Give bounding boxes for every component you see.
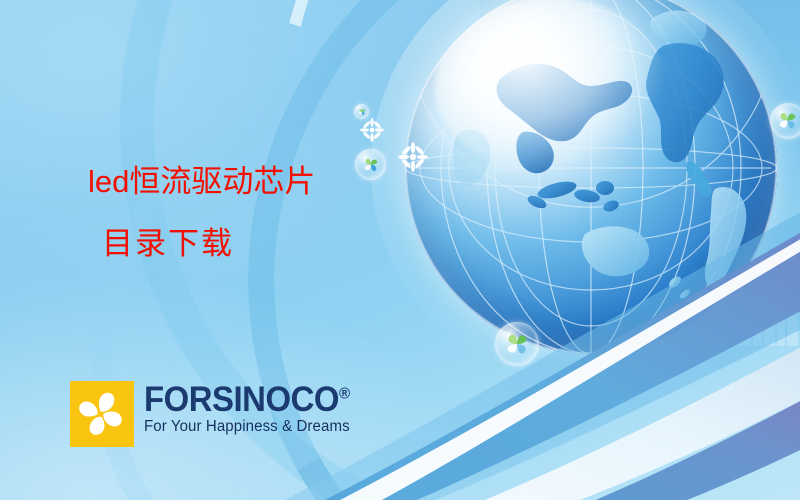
headline: led恒流驱动芯片 目录下载 (88, 166, 488, 259)
banner-canvas: led恒流驱动芯片 目录下载 FORSINOCO® For Your Happi… (0, 0, 800, 500)
bubble-pinwheel-4 (770, 103, 800, 139)
headline-line-2: 目录下载 (88, 228, 488, 259)
bubble-pinwheel-1 (354, 104, 369, 119)
pinwheel-icon (776, 109, 799, 132)
brand-logo: FORSINOCO® For Your Happiness & Dreams (70, 381, 363, 447)
brand-name: FORSINOCO® (144, 383, 350, 417)
four-petal-pinwheel-icon (70, 381, 134, 447)
brand-name-text: FORSINOCO (144, 380, 339, 419)
bubble-pinwheel-3 (495, 322, 539, 366)
brand-tagline: For Your Happiness & Dreams (144, 418, 356, 436)
pinwheel-icon (357, 107, 367, 117)
registered-trademark-icon: ® (339, 385, 350, 402)
headline-line-1: led恒流驱动芯片 (88, 166, 488, 197)
starburst-1 (360, 118, 384, 142)
brand-text-block: FORSINOCO® For Your Happiness & Dreams (144, 381, 363, 436)
pinwheel-icon (503, 330, 531, 358)
